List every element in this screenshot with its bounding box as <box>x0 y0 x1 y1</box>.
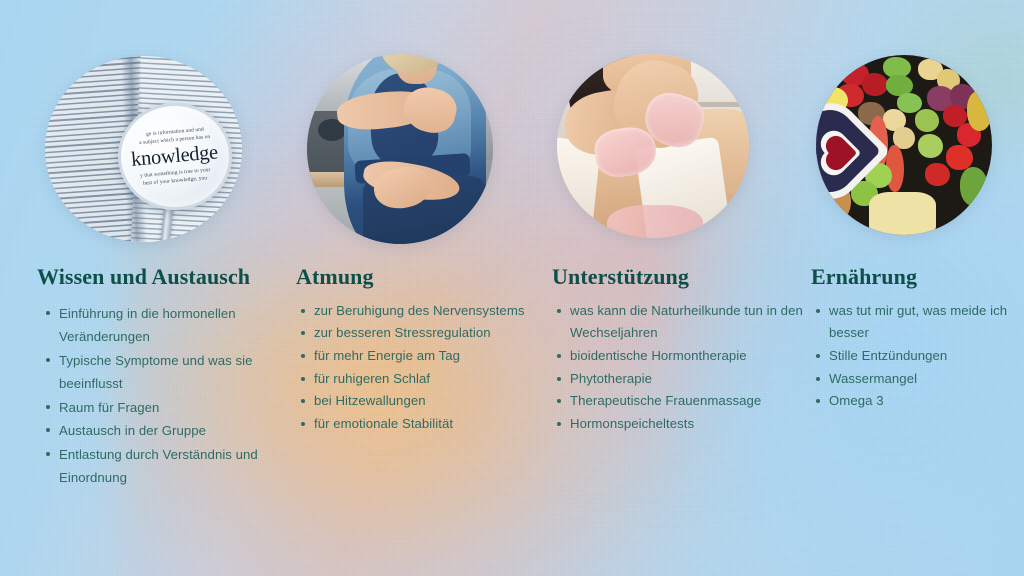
list-item: Raum für Fragen <box>59 396 289 420</box>
list-item: Einführung in die hormonellen Veränderun… <box>59 302 289 349</box>
bullet-list-unterstuetzung: was kann die Naturheilkunde tun in den W… <box>548 300 806 436</box>
produce-kiwi <box>918 134 943 157</box>
list-item: Therapeutische Frauenmassage <box>570 390 806 413</box>
photo-magnifying-glass-dictionary: ge is information and und a subject whic… <box>45 56 242 242</box>
column-wissen-text: Wissen und Austausch Einführung in die h… <box>33 264 289 490</box>
list-item: Austausch in der Gruppe <box>59 419 289 443</box>
list-item: zur Beruhigung des Nervensystems <box>314 300 542 323</box>
list-item: Phytotherapie <box>570 368 806 391</box>
produce-tomato <box>862 73 888 96</box>
bullet-list-ernaehrung: was tut mir gut, was meide ich besser St… <box>807 300 1023 414</box>
bullet-list-wissen: Einführung in die hormonellen Veränderun… <box>33 302 289 490</box>
list-item: für mehr Energie am Tag <box>314 345 542 368</box>
list-item: Typische Symptome und was sie beeinfluss… <box>59 349 289 396</box>
heading-unterstuetzung: Unterstützung <box>552 264 806 290</box>
produce-kiwi <box>915 109 940 132</box>
column-atmung-text: Atmung zur Beruhigung des Nervensystems … <box>292 264 542 436</box>
list-item: Hormonspeicheltests <box>570 413 806 436</box>
bullet-list-atmung: zur Beruhigung des Nervensystems zur bes… <box>292 300 542 436</box>
column-ernaehrung-text: Ernährung was tut mir gut, was meide ich… <box>807 264 1023 413</box>
list-item: Stille Entzündungen <box>829 345 1023 368</box>
photo-fruit-vegetable-platter <box>816 55 992 235</box>
produce-yellow-beans <box>869 192 936 235</box>
heading-ernaehrung: Ernährung <box>811 264 1023 290</box>
list-item: für emotionale Stabilität <box>314 413 542 436</box>
infographic-stage: ge is information and und a subject whic… <box>0 0 1024 576</box>
list-item: Entlastung durch Verständnis und Einordn… <box>59 443 289 490</box>
list-item: was kann die Naturheilkunde tun in den W… <box>570 300 806 345</box>
image-circle-atmung <box>307 54 493 244</box>
magnifier-lens-icon: ge is information and und a subject whic… <box>118 103 232 211</box>
produce-green-beans <box>960 167 988 207</box>
list-item: bei Hitzewallungen <box>314 390 542 413</box>
column-unterstuetzung-text: Unterstützung was kann die Naturheilkund… <box>548 264 806 436</box>
pink-sheet <box>607 205 703 238</box>
list-item: Wassermangel <box>829 368 1023 391</box>
photo-breathing-exercise <box>307 54 493 244</box>
list-item: zur besseren Stressregulation <box>314 322 542 345</box>
image-circle-wissen: ge is information and und a subject whic… <box>45 56 242 242</box>
image-circle-unterstuetzung <box>557 54 749 238</box>
produce-cucumber <box>897 93 922 113</box>
photo-back-massage <box>557 54 749 238</box>
list-item: für ruhigeren Schlaf <box>314 368 542 391</box>
list-item: Omega 3 <box>829 390 1023 413</box>
heading-atmung: Atmung <box>296 264 542 290</box>
list-item: bioidentische Hormontherapie <box>570 345 806 368</box>
image-circle-ernaehrung <box>816 55 992 235</box>
list-item: was tut mir gut, was meide ich besser <box>829 300 1023 345</box>
produce-strawberry <box>925 163 950 186</box>
produce-yellow-pepper <box>967 91 992 131</box>
heading-wissen: Wissen und Austausch <box>37 264 289 290</box>
